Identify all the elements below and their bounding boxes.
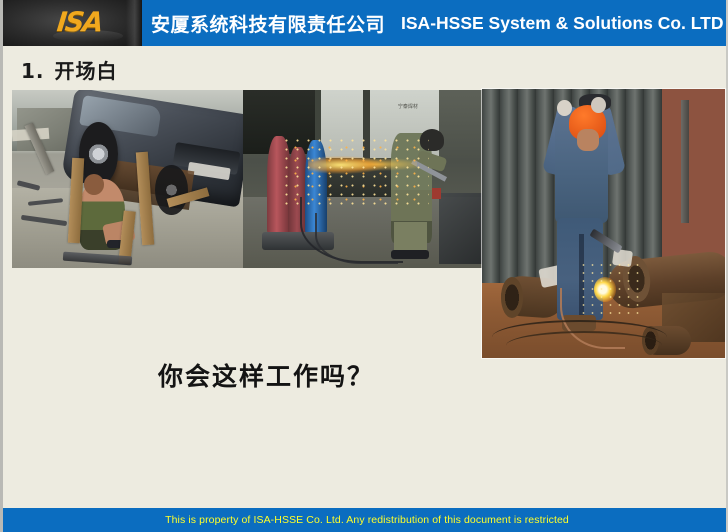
photo1-rear-wheel <box>155 165 187 215</box>
header-title-group: 安厦系统科技有限责任公司 ISA-HSSE System & Solutions… <box>151 0 724 46</box>
company-name-english: ISA-HSSE System & Solutions Co. LTD <box>401 13 724 34</box>
photo3-ground-cable-2 <box>506 331 662 358</box>
photo3-worker-face <box>577 129 599 151</box>
heading-label: 开场白 <box>55 59 118 83</box>
slide-footer: This is property of ISA-HSSE Co. Ltd. An… <box>3 508 728 532</box>
footer-copyright-text: This is property of ISA-HSSE Co. Ltd. An… <box>165 514 569 526</box>
photo2-wall-sign: 宁泰焊材 <box>382 104 435 120</box>
heading-number: 1. <box>21 59 45 83</box>
photo3-left-pipe-opening <box>501 277 523 317</box>
photo-car-on-wooden-props <box>12 90 243 268</box>
photo3-worker-hand-right <box>591 97 606 113</box>
slide-canvas: ISA 安厦系统科技有限责任公司 ISA-HSSE System & Solut… <box>0 0 728 532</box>
logo-shine-decoration <box>53 30 123 42</box>
photo2-red-object <box>432 188 442 199</box>
company-name-chinese: 安厦系统科技有限责任公司 <box>151 10 385 37</box>
photo3-brick-wall <box>662 89 725 277</box>
slide-header: ISA 安厦系统科技有限责任公司 ISA-HSSE System & Solut… <box>3 0 728 46</box>
photo3-downpipe <box>681 100 688 224</box>
photo3-worker-hand-left <box>557 100 572 116</box>
company-logo-panel: ISA <box>3 0 142 46</box>
slide-heading: 1.开场白 <box>21 55 118 84</box>
photo-grinding-sparks-near-gas-cylinders: 宁泰焊材 <box>243 90 482 268</box>
slide-caption: 你会这样工作吗？ <box>158 357 374 393</box>
photo-torch-cutting-between-legs <box>482 89 725 358</box>
photo2-equipment-pile <box>439 193 482 264</box>
